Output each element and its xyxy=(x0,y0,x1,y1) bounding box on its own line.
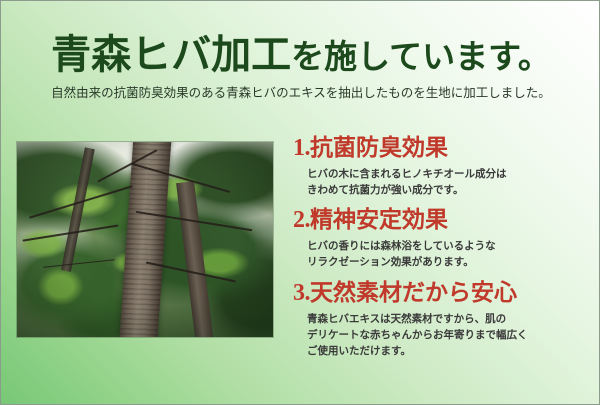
benefit-body-line: ご使用いただけます。 xyxy=(307,343,593,359)
benefit-item-2: 2.精神安定効果 ヒバの香りには森林浴をしているような リラクゼーション効果があ… xyxy=(293,207,593,270)
page-subtitle: 自然由来の抗菌防臭効果のある青森ヒバのエキスを抽出したものを生地に加工しました。 xyxy=(1,75,600,101)
benefit-body-line: ヒバの木に含まれるヒノキチオール成分は xyxy=(307,166,593,182)
page-title: 青森ヒバ加工を施しています。 xyxy=(1,1,600,75)
benefit-number-2: 2. xyxy=(293,207,310,233)
benefit-body-line: 青森ヒバエキスは天然素材ですから、肌の xyxy=(307,311,593,327)
benefit-heading-1: 1.抗菌防臭効果 xyxy=(293,135,593,163)
benefit-heading-3: 3.天然素材だから安心 xyxy=(293,280,593,308)
benefit-title-2: 精神安定効果 xyxy=(310,207,448,232)
benefit-heading-2: 2.精神安定効果 xyxy=(293,207,593,235)
benefit-number-3: 3. xyxy=(293,280,310,306)
benefit-body-line: リラクゼーション効果があります。 xyxy=(307,254,593,270)
benefit-item-3: 3.天然素材だから安心 青森ヒバエキスは天然素材ですから、肌の デリケートな赤ち… xyxy=(293,280,593,360)
benefit-item-1: 1.抗菌防臭効果 ヒバの木に含まれるヒノキチオール成分は きわめて抗菌力が強い成… xyxy=(293,135,593,198)
banner-header: 青森ヒバ加工を施しています。 自然由来の抗菌防臭効果のある青森ヒバのエキスを抽出… xyxy=(1,1,600,101)
benefit-number-1: 1. xyxy=(293,135,310,161)
benefit-title-3: 天然素材だから安心 xyxy=(310,280,517,305)
benefit-body-3: 青森ヒバエキスは天然素材ですから、肌の デリケートな赤ちゃんからお年寄りまで幅広… xyxy=(307,311,593,360)
hiba-forest-photo xyxy=(17,142,273,337)
benefit-body-line: デリケートな赤ちゃんからお年寄りまで幅広く xyxy=(307,327,593,343)
photo-vignette xyxy=(17,142,273,337)
benefits-list: 1.抗菌防臭効果 ヒバの木に含まれるヒノキチオール成分は きわめて抗菌力が強い成… xyxy=(293,135,593,368)
benefit-title-1: 抗菌防臭効果 xyxy=(310,135,448,160)
benefit-body-line: ヒバの香りには森林浴をしているような xyxy=(307,238,593,254)
page-title-lead: 青森ヒバ加工 xyxy=(51,32,291,77)
benefit-body-line: きわめて抗菌力が強い成分です。 xyxy=(307,182,593,198)
page-title-tail: を施しています。 xyxy=(291,40,551,76)
promo-banner: 青森ヒバ加工を施しています。 自然由来の抗菌防臭効果のある青森ヒバのエキスを抽出… xyxy=(0,0,600,405)
benefit-body-2: ヒバの香りには森林浴をしているような リラクゼーション効果があります。 xyxy=(307,238,593,271)
benefit-body-1: ヒバの木に含まれるヒノキチオール成分は きわめて抗菌力が強い成分です。 xyxy=(307,166,593,199)
